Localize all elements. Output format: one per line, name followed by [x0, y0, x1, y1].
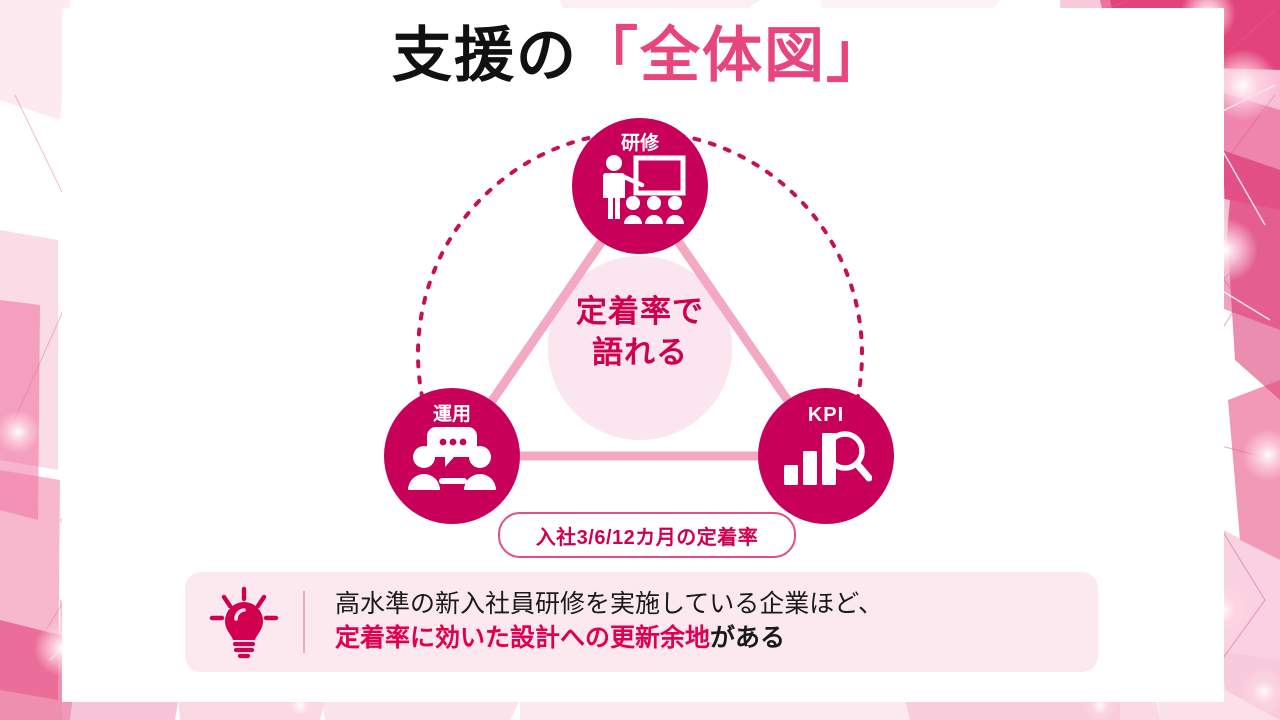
lightbulb-icon	[207, 585, 281, 659]
page-title: 支援の「全体図」	[0, 26, 1280, 86]
center-text-line1: 定着率で	[542, 292, 738, 333]
diagram-node-kpi-label: KPI	[808, 405, 844, 425]
diagram-node-operations[interactable]: 運用	[384, 388, 520, 524]
retention-badge[interactable]: 入社3/6/12カ月の定着率	[498, 512, 796, 558]
diagram-node-training-label: 研修	[621, 134, 659, 153]
callout-line-2-accent: 定着率に効いた設計への更新余地	[335, 624, 710, 652]
callout-text: 高水準の新入社員研修を実施している企業ほど、 定着率に効いた設計への更新余地があ…	[305, 588, 883, 656]
diagram-node-operations-label: 運用	[433, 405, 471, 424]
callout-line-2: 定着率に効いた設計への更新余地がある	[335, 622, 883, 656]
diagram-node-training[interactable]: 研修	[572, 118, 708, 254]
support-overview-diagram: 定着率で 語れる 研修 運用	[330, 100, 960, 570]
page-title-accent: 「全体図」	[578, 22, 888, 89]
center-text-line2: 語れる	[542, 333, 738, 374]
callout-line-1: 高水準の新入社員研修を実施している企業ほど、	[335, 588, 883, 622]
diagram-center-text: 定着率で 語れる	[542, 292, 738, 374]
retention-badge-label: 入社3/6/12カ月の定着率	[536, 521, 759, 550]
bar-chart-magnifier-icon	[780, 425, 872, 487]
page-title-plain: 支援の	[392, 22, 578, 89]
presentation-training-icon	[592, 153, 688, 225]
people-chat-icon	[406, 424, 498, 490]
diagram-node-kpi[interactable]: KPI	[758, 388, 894, 524]
insight-callout: 高水準の新入社員研修を実施している企業ほど、 定着率に効いた設計への更新余地があ…	[185, 572, 1098, 672]
lightbulb-icon-wrap	[185, 585, 303, 659]
callout-line-2-tail: がある	[710, 624, 785, 652]
